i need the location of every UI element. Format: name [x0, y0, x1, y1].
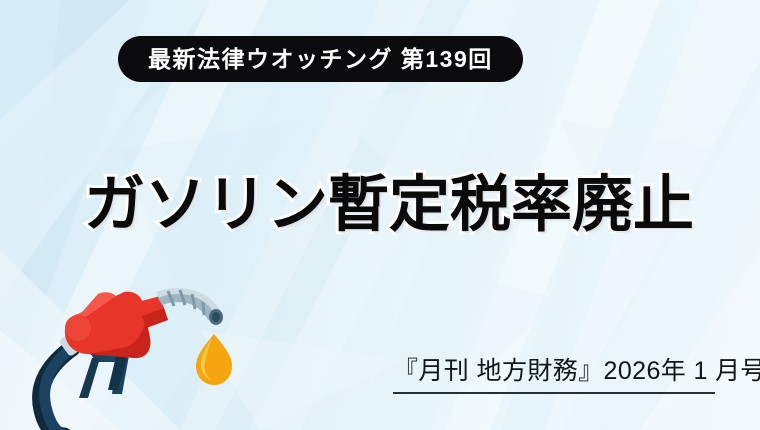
fuel-nozzle-icon — [26, 276, 256, 430]
banner-root: 最新法律ウオッチング 第139回 ガソリン暫定税率廃止 — [0, 0, 760, 430]
publication-label: 『月刊 地方財務』2026年 1 月号 — [393, 356, 715, 387]
footer-divider — [393, 392, 715, 394]
issue-badge: 最新法律ウオッチング 第139回 — [118, 36, 523, 82]
issue-badge-label: 最新法律ウオッチング 第139回 — [148, 48, 493, 71]
page-title: ガソリン暫定税率廃止 — [84, 172, 694, 236]
footer-caption: 『月刊 地方財務』2026年 1 月号 — [393, 356, 715, 394]
